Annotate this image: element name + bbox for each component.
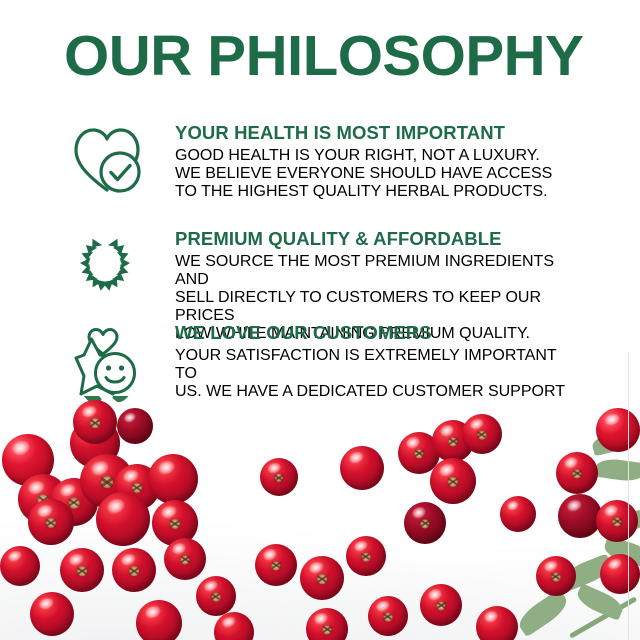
feature-body-line: TO THE HIGHEST QUALITY HERBAL PRODUCTS. (175, 183, 575, 201)
cranberry (368, 596, 408, 636)
berry-calyx (448, 477, 458, 487)
cranberry (28, 499, 74, 545)
cranberry (136, 600, 182, 640)
berry-calyx (101, 476, 113, 488)
berry-calyx (612, 517, 621, 526)
feature-heading: WE LOVE OUR CUSTOMERS (175, 322, 575, 343)
berry-calyx (46, 518, 56, 528)
berry-calyx (572, 469, 581, 478)
heart-check-icon (72, 122, 142, 196)
berry-calyx (129, 566, 139, 576)
cranberry (112, 548, 156, 592)
berry-calyx (271, 561, 280, 570)
feature-text-health: YOUR HEALTH IS MOST IMPORTANT GOOD HEALT… (175, 122, 575, 217)
berry-calyx (212, 592, 221, 601)
feature-heading: YOUR HEALTH IS MOST IMPORTANT (175, 122, 575, 143)
berry-calyx (362, 552, 371, 561)
cranberry (117, 408, 153, 444)
cranberry (420, 584, 462, 626)
feature-body-line: YOUR SATISFACTION IS EXTREMELY IMPORTANT… (175, 347, 575, 383)
berry-calyx (448, 437, 457, 446)
cranberry (0, 546, 40, 586)
berry-calyx (317, 574, 327, 584)
image-seam-line (628, 352, 629, 640)
berry-calyx (420, 519, 429, 528)
cranberry (462, 414, 502, 454)
cranberry (260, 458, 298, 496)
laurel-wreath-icon (70, 226, 140, 300)
berry-calyx (436, 601, 445, 610)
page-title: OUR PHILOSOPHY (64, 25, 583, 87)
cranberry (60, 548, 104, 592)
berry-calyx (180, 555, 189, 564)
cranberry (596, 408, 640, 452)
berry-calyx (77, 566, 87, 576)
berry-calyx (414, 449, 423, 458)
cranberry (255, 544, 297, 586)
cranberry (340, 446, 384, 490)
cranberry (96, 492, 150, 546)
cranberry (596, 500, 638, 542)
cranberry (346, 536, 386, 576)
berry-calyx (132, 483, 142, 493)
cranberry (300, 556, 344, 600)
cranberry (430, 458, 476, 504)
feature-body-line: SELL DIRECTLY TO CUSTOMERS TO KEEP OUR P… (175, 289, 575, 325)
berry-body (476, 606, 518, 640)
cranberry (500, 496, 536, 532)
cranberry (30, 592, 74, 636)
berry-calyx (384, 612, 393, 621)
cranberry (73, 400, 117, 444)
feature-heading: PREMIUM QUALITY & AFFORDABLE (175, 228, 575, 249)
philosophy-infographic: OUR PHILOSOPHY YOUR HEALTH IS MOST IMPOR… (0, 0, 640, 640)
feature-body-line: WE BELIEVE EVERYONE SHOULD HAVE ACCESS (175, 165, 575, 183)
berry-calyx (478, 430, 487, 439)
berry-calyx (552, 572, 561, 581)
berry-calyx (90, 418, 100, 428)
berry-calyx (275, 474, 283, 482)
cranberry (476, 606, 518, 640)
berry-calyx (322, 625, 331, 634)
feature-body-line: WE SOURCE THE MOST PREMIUM INGREDIENTS A… (175, 253, 575, 289)
cranberry (196, 576, 236, 616)
cranberry (556, 452, 598, 494)
cranberry (148, 454, 198, 504)
cranberry (404, 502, 446, 544)
berry-calyx (69, 498, 80, 509)
cranberry (536, 556, 576, 596)
cranberry-photo (0, 396, 640, 640)
feature-body-line: GOOD HEALTH IS YOUR RIGHT, NOT A LUXURY. (175, 147, 575, 165)
cranberry (164, 538, 206, 580)
star-smiley-heart-icon (70, 326, 140, 400)
cranberry (600, 554, 640, 594)
berry-calyx (170, 519, 180, 529)
